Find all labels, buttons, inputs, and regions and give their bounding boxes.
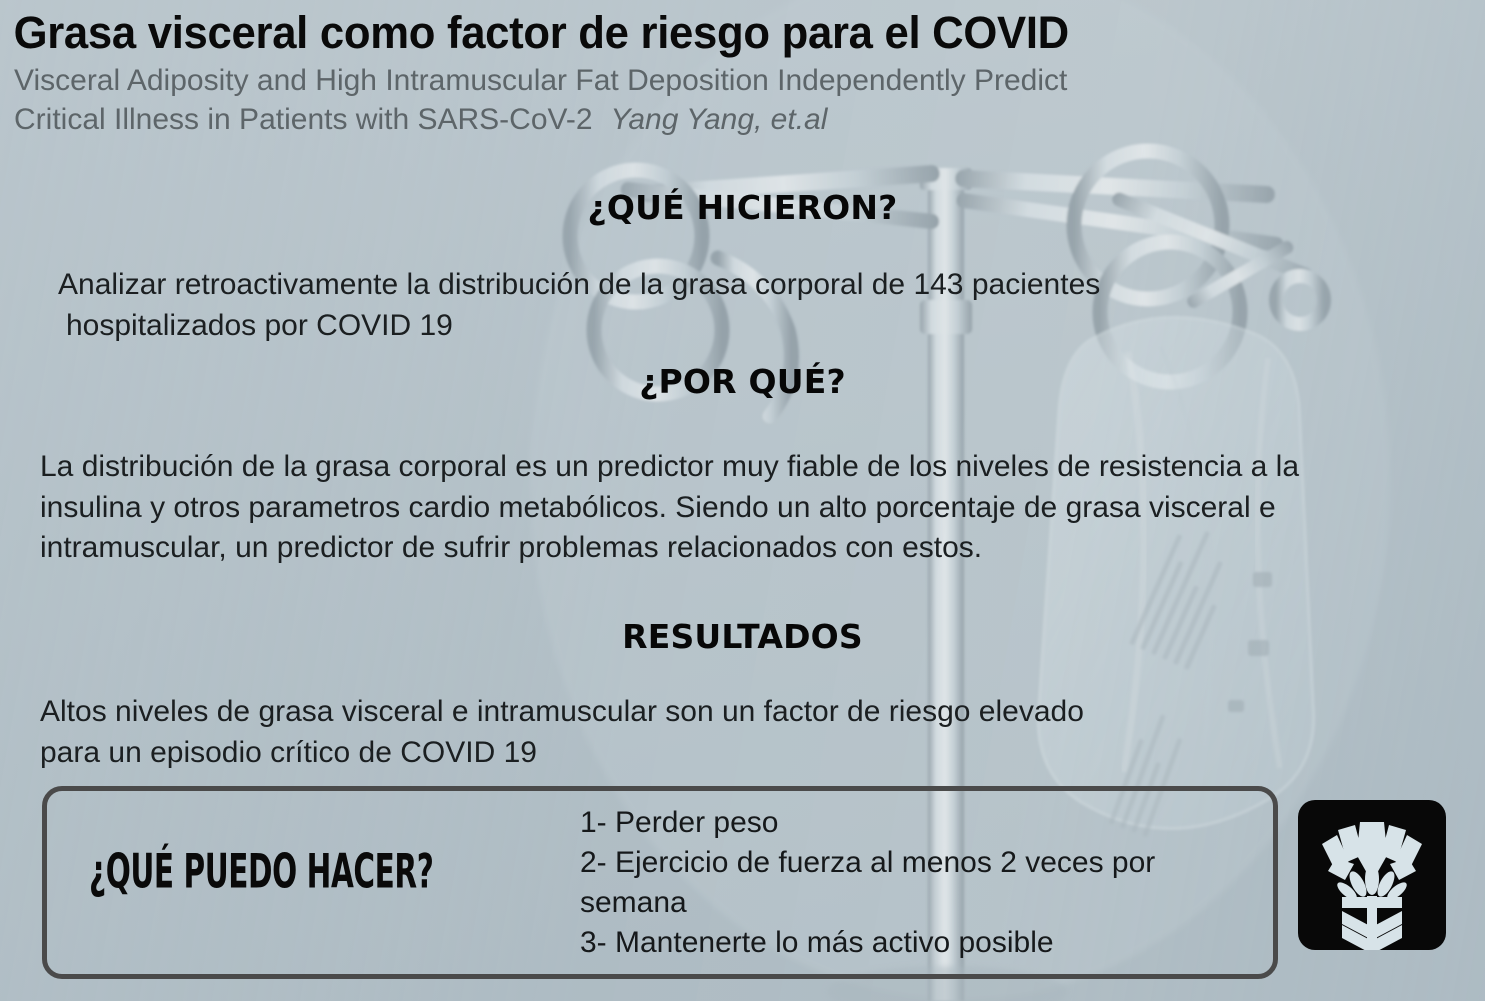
que-hicieron-line-1: Analizar retroactivamente la distribució… <box>58 265 1418 306</box>
subtitle-line-1: Visceral Adiposity and High Intramuscula… <box>14 62 1420 100</box>
page-title: Grasa visceral como factor de riesgo par… <box>0 0 1440 56</box>
resultados-line-1: Altos niveles de grasa visceral e intram… <box>40 692 1400 733</box>
section-body-que-hicieron: Analizar retroactivamente la distribució… <box>58 265 1418 346</box>
crown-and-k-plant-logo-icon <box>1298 800 1446 950</box>
action-callout-box: ¿QUÉ PUEDO HACER? 1- Perder peso 2- Ejer… <box>42 786 1278 979</box>
infographic-poster: Grasa visceral como factor de riesgo par… <box>0 0 1485 1001</box>
section-body-por-que: La distribución de la grasa corporal es … <box>40 447 1400 569</box>
action-item-list: 1- Perder peso 2- Ejercicio de fuerza al… <box>580 803 1240 963</box>
paper-authors: Yang Yang, et.al <box>593 103 828 136</box>
section-heading-que-hicieron: ¿QUÉ HICIERON? <box>0 188 1485 227</box>
paper-subtitle: Visceral Adiposity and High Intramuscula… <box>0 56 1420 139</box>
section-heading-por-que: ¿POR QUÉ? <box>0 362 1485 401</box>
subtitle-line-2-wrap: Critical Illness in Patients with SARS-C… <box>14 101 1420 139</box>
action-box-title: ¿QUÉ PUEDO HACER? <box>89 845 433 899</box>
list-item: 1- Perder peso <box>580 803 1240 843</box>
que-hicieron-line-2: hospitalizados por COVID 19 <box>58 306 1418 347</box>
resultados-line-2: para un episodio crítico de COVID 19 <box>40 733 1400 774</box>
list-item: 3- Mantenerte lo más activo posible <box>580 923 1240 963</box>
section-body-resultados: Altos niveles de grasa visceral e intram… <box>40 692 1400 773</box>
section-heading-resultados: RESULTADOS <box>0 617 1485 656</box>
list-item: 2- Ejercicio de fuerza al menos 2 veces … <box>580 843 1240 923</box>
subtitle-line-2: Critical Illness in Patients with SARS-C… <box>14 103 593 136</box>
